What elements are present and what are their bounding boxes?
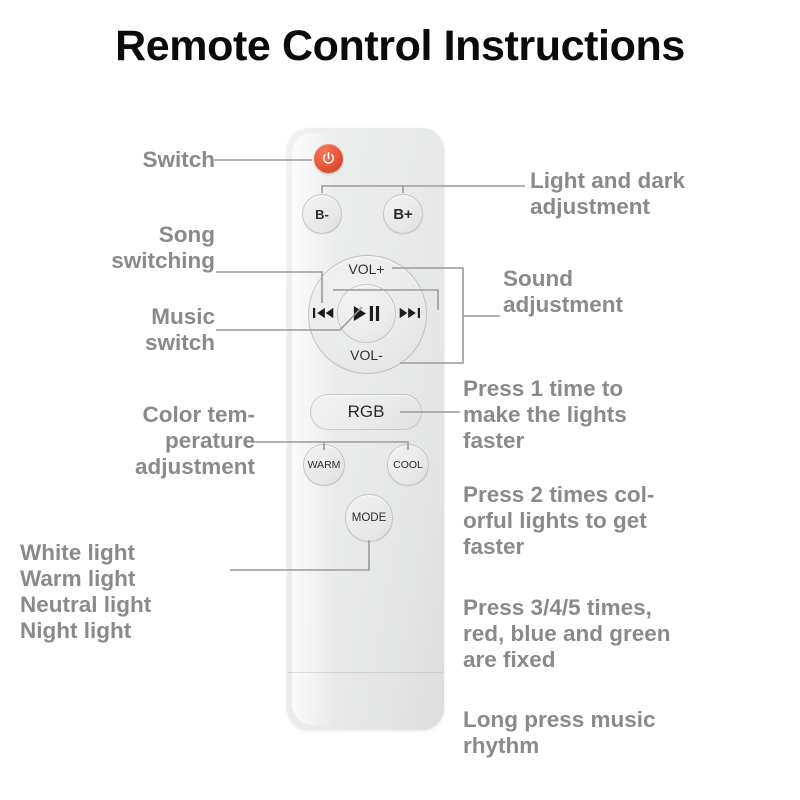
callout-press-1-time: Press 1 time to make the lights faster	[463, 376, 753, 454]
instruction-diagram: Remote Control Instructions B- B+ VOL+ V…	[0, 0, 800, 800]
volume-up-label[interactable]: VOL+	[308, 261, 425, 277]
callout-long-press: Long press music rhythm	[463, 707, 763, 759]
page-title: Remote Control Instructions	[0, 22, 800, 71]
brightness-down-button[interactable]: B-	[302, 194, 342, 234]
cool-label: COOL	[393, 459, 423, 471]
callout-color-temperature: Color tem- perature adjustment	[20, 402, 255, 480]
mode-label: MODE	[352, 512, 387, 524]
callout-press-2-times: Press 2 times col- orful lights to get f…	[463, 482, 763, 560]
callout-light-types: White light Warm light Neutral light Nig…	[20, 540, 255, 644]
play-pause-icon	[352, 305, 382, 322]
callout-music-switch: Music switch	[20, 304, 215, 356]
callout-light-dark: Light and dark adjustment	[530, 168, 780, 220]
remote-body-seam	[288, 672, 443, 673]
callout-press-3-4-5-times: Press 3/4/5 times, red, blue and green a…	[463, 595, 763, 673]
warm-button[interactable]: WARM	[303, 444, 345, 486]
next-track-icon[interactable]	[398, 305, 420, 321]
brightness-up-button[interactable]: B+	[383, 194, 423, 234]
mode-button[interactable]: MODE	[345, 494, 393, 542]
previous-track-icon[interactable]	[313, 305, 335, 321]
play-pause-button[interactable]	[337, 284, 396, 343]
callout-song-switching: Song switching	[20, 222, 215, 274]
cool-button[interactable]: COOL	[387, 444, 429, 486]
brightness-down-label: B-	[315, 207, 329, 222]
rgb-label: RGB	[348, 402, 385, 422]
warm-label: WARM	[308, 459, 341, 471]
brightness-up-label: B+	[393, 206, 413, 223]
callout-sound: Sound adjustment	[503, 266, 753, 318]
rgb-button[interactable]: RGB	[310, 394, 422, 430]
power-button[interactable]	[314, 144, 343, 173]
callout-switch: Switch	[40, 147, 215, 173]
volume-down-label[interactable]: VOL-	[308, 347, 425, 363]
power-icon	[321, 151, 336, 166]
